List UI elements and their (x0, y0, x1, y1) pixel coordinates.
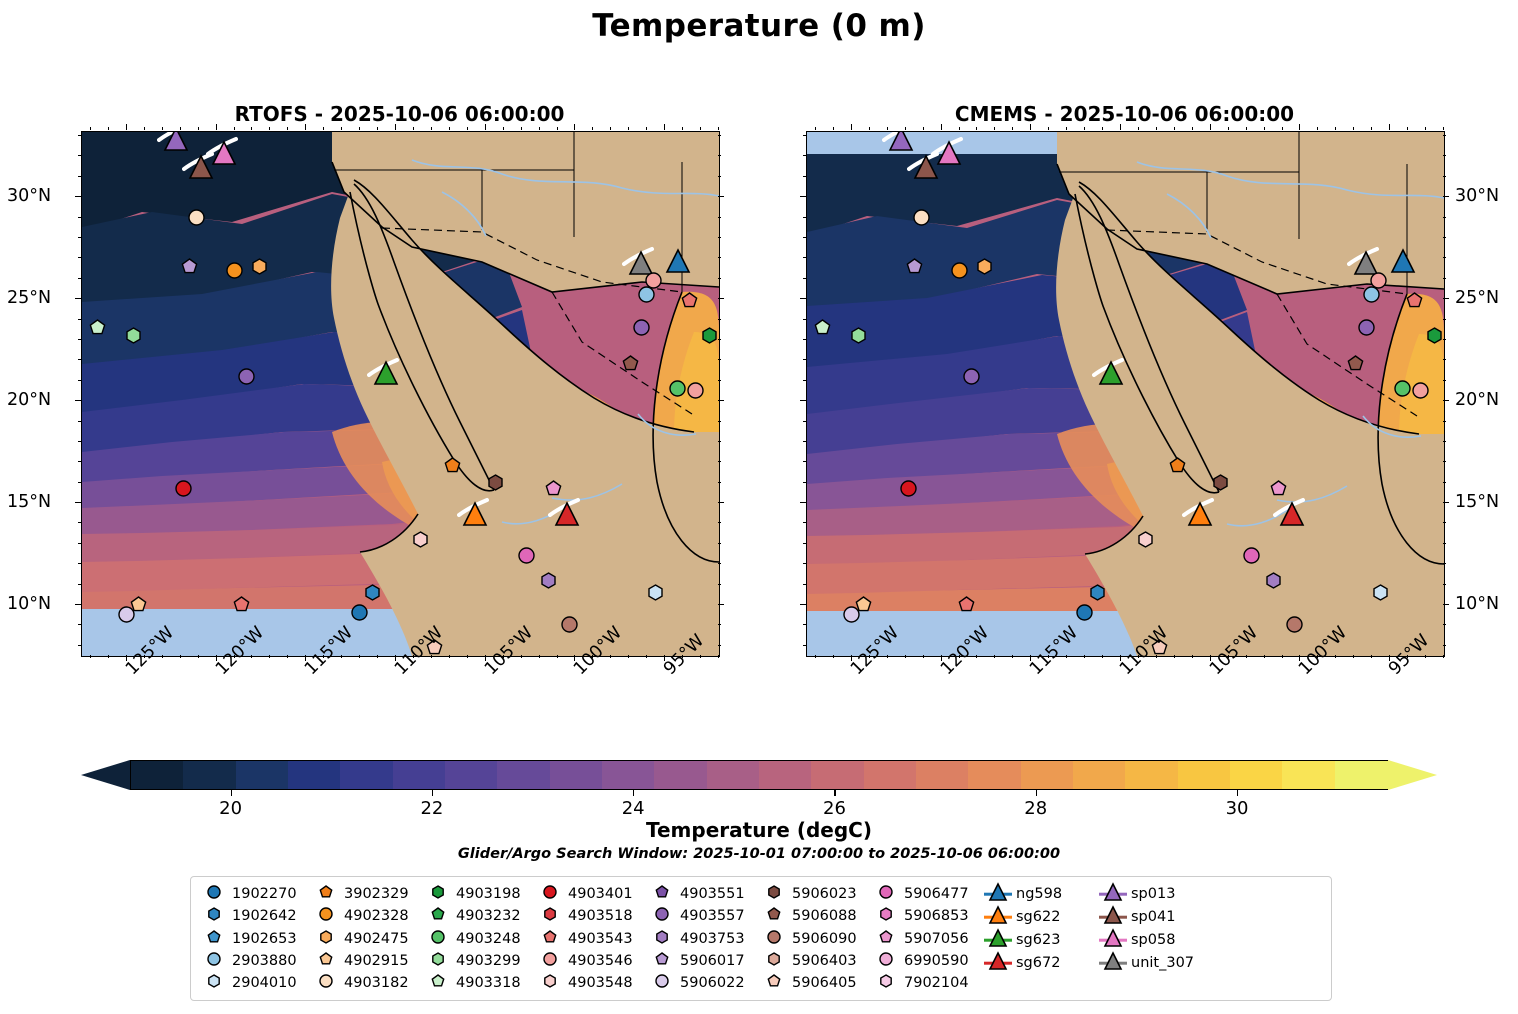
legend-marker-triangle-icon (1098, 930, 1128, 950)
legend-item-5906853[interactable]: 5906853 (871, 905, 983, 926)
map-marker-4902328[interactable] (225, 261, 244, 280)
y-minor-tick (803, 441, 806, 442)
colorbar-segment (1282, 761, 1336, 789)
legend-item-unit_307[interactable]: unit_307 (1098, 952, 1213, 974)
map-marker-4902328[interactable] (950, 261, 969, 280)
colorbar-segment (811, 761, 865, 789)
y-tick-label: 10°N (7, 594, 51, 614)
colorbar-segment (916, 761, 970, 789)
y-minor-tick (803, 584, 806, 585)
x-minor-tick (1371, 655, 1372, 658)
legend-column-3: 49031984903232490324849032994903318 (423, 883, 535, 994)
map-marker-4902915[interactable] (129, 595, 148, 614)
map-marker-4903557b[interactable] (1357, 318, 1376, 337)
map-marker-sp013[interactable] (888, 131, 914, 152)
legend-label: 4903548 (565, 975, 633, 991)
legend-item-4903557[interactable]: 4903557 (647, 905, 759, 926)
legend-marker-triangle-icon (1098, 953, 1128, 973)
x-minor-tick (833, 655, 834, 658)
colorbar-tick-label: 28 (1024, 798, 1047, 819)
x-minor-tick (923, 127, 924, 130)
legend-marker-hexagon-icon (759, 951, 789, 971)
map-marker-sg672[interactable] (1279, 501, 1305, 527)
x-minor-tick (323, 655, 324, 658)
legend-item-4903546[interactable]: 4903546 (535, 950, 647, 971)
map-marker-sp041[interactable] (913, 154, 939, 180)
x-minor-tick (646, 655, 647, 658)
map-marker-4902475[interactable] (250, 257, 269, 276)
map-marker-ng598[interactable] (665, 248, 691, 274)
legend-item-1902653[interactable]: 1902653 (199, 928, 311, 949)
x-minor-tick (1335, 127, 1336, 130)
colorbar-segment (1125, 761, 1179, 789)
x-minor-tick (90, 655, 91, 658)
y-minor-tick (718, 441, 721, 442)
x-minor-tick (628, 127, 629, 130)
map-marker-ng598[interactable] (1390, 248, 1416, 274)
y-minor-tick (803, 482, 806, 483)
x-tick (851, 124, 852, 130)
y-tick (800, 400, 806, 401)
x-minor-tick (1246, 655, 1247, 658)
y-minor-tick (78, 155, 81, 156)
y-tick-label: 15°N (7, 492, 51, 512)
map-marker-4903198[interactable] (1425, 326, 1444, 345)
y-minor-tick (718, 645, 721, 646)
map-marker-5906023[interactable] (1211, 473, 1230, 492)
y-tick (1443, 502, 1449, 503)
map-marker-4903198[interactable] (700, 326, 719, 345)
y-minor-tick (1443, 217, 1446, 218)
y-minor-tick (78, 421, 81, 422)
legend-label: 2903880 (229, 953, 297, 969)
x-minor-tick (1282, 127, 1283, 130)
x-minor-tick (1264, 655, 1265, 658)
x-minor-tick (521, 655, 522, 658)
y-minor-tick (718, 257, 721, 258)
legend-label: 1902653 (229, 931, 297, 947)
colorbar-segment (497, 761, 551, 789)
legend[interactable]: 1902270190264219026532903880290401039023… (190, 876, 1332, 1001)
y-minor-tick (78, 584, 81, 585)
colorbar-gradient (130, 760, 1388, 790)
legend-marker-hexagon-icon (535, 906, 565, 926)
x-minor-tick (1282, 655, 1283, 658)
map-marker-2904010[interactable] (646, 583, 665, 602)
x-minor-tick (557, 655, 558, 658)
y-minor-tick (803, 319, 806, 320)
x-minor-tick (1264, 127, 1265, 130)
x-minor-tick (180, 127, 181, 130)
y-tick-label: 25°N (7, 288, 51, 308)
y-minor-tick (803, 237, 806, 238)
map-marker-5906088[interactable] (1346, 354, 1365, 373)
legend-marker-triangle-icon (983, 884, 1013, 904)
x-minor-tick (718, 655, 719, 658)
x-minor-tick (628, 655, 629, 658)
y-minor-tick (78, 543, 81, 544)
map-marker-4903299[interactable] (849, 326, 868, 345)
y-tick (1443, 400, 1449, 401)
legend-label: 4903557 (677, 908, 745, 924)
y-minor-tick (718, 176, 721, 177)
x-minor-tick (467, 127, 468, 130)
legend-item-5906477[interactable]: 5906477 (871, 883, 983, 904)
map-marker-1902270[interactable] (350, 603, 369, 622)
map-marker-4903753[interactable] (1264, 571, 1283, 590)
y-minor-tick (1443, 522, 1446, 523)
x-minor-tick (1066, 127, 1067, 130)
map-marker-4903318[interactable] (813, 318, 832, 337)
legend-item-4903299[interactable]: 4903299 (423, 950, 535, 971)
map-marker-4902915[interactable] (854, 595, 873, 614)
legend-column-6: 59060235906088590609059064035906405 (759, 883, 871, 994)
legend-marker-circle-icon (871, 884, 901, 904)
x-minor-tick (905, 127, 906, 130)
y-tick (75, 502, 81, 503)
legend-marker-circle-icon (423, 929, 453, 949)
x-minor-tick (959, 127, 960, 130)
legend-marker-circle-icon (535, 884, 565, 904)
legend-marker-pentagon-icon (759, 906, 789, 926)
x-minor-tick (1156, 655, 1157, 658)
x-minor-tick (341, 655, 342, 658)
x-minor-tick (1156, 127, 1157, 130)
legend-item-5906088[interactable]: 5906088 (759, 905, 871, 926)
x-tick (941, 124, 942, 130)
x-minor-tick (1192, 655, 1193, 658)
marker-overlay-cmems (807, 132, 1444, 656)
x-minor-tick (144, 655, 145, 658)
map-marker-4903543b[interactable] (680, 291, 699, 310)
x-minor-tick (90, 127, 91, 130)
legend-item-4902475[interactable]: 4902475 (311, 928, 423, 949)
legend-label: 4902328 (341, 908, 409, 924)
legend-item-5906090[interactable]: 5906090 (759, 928, 871, 949)
legend-label: 4903753 (677, 931, 745, 947)
legend-marker-hexagon-icon (199, 973, 229, 993)
map-marker-sg623[interactable] (1098, 360, 1124, 386)
colorbar-segment (1230, 761, 1284, 789)
colorbar-tick-label: 24 (622, 798, 645, 819)
y-minor-tick (78, 176, 81, 177)
map-marker-4903401[interactable] (899, 479, 918, 498)
colorbar-segment (707, 761, 761, 789)
legend-label: 5906017 (677, 953, 745, 969)
map-marker-5906090[interactable] (1285, 615, 1304, 634)
legend-marker-circle-icon (871, 951, 901, 971)
map-marker-4903546b[interactable] (1411, 381, 1430, 400)
map-marker-4902475[interactable] (975, 257, 994, 276)
y-minor-tick (1443, 645, 1446, 646)
x-minor-tick (1012, 655, 1013, 658)
map-marker-4903548[interactable] (1136, 530, 1155, 549)
y-minor-tick (718, 543, 721, 544)
marker-overlay-rtofs (82, 132, 719, 656)
y-minor-tick (78, 237, 81, 238)
map-marker-1902642[interactable] (1088, 583, 1107, 602)
y-tick (718, 502, 724, 503)
map-marker-sg622[interactable] (1187, 501, 1213, 527)
y-minor-tick (718, 135, 721, 136)
y-tick (1443, 298, 1449, 299)
colorbar-tick (432, 790, 433, 796)
x-minor-tick (1335, 655, 1336, 658)
legend-label: 5906477 (901, 886, 969, 902)
map-marker-4903546b[interactable] (686, 381, 705, 400)
map-marker-4903248[interactable] (668, 379, 687, 398)
x-minor-tick (1228, 655, 1229, 658)
legend-marker-circle-icon (759, 929, 789, 949)
legend-marker-hexagon-icon (871, 973, 901, 993)
legend-item-5907056[interactable]: 5907056 (871, 928, 983, 949)
legend-label: 4903182 (341, 975, 409, 991)
x-minor-tick (359, 127, 360, 130)
legend-marker-pentagon-icon (423, 973, 453, 993)
x-tick (126, 124, 127, 130)
legend-item-sp058[interactable]: sp058 (1098, 929, 1213, 951)
x-minor-tick (1425, 127, 1426, 130)
y-tick (1443, 196, 1449, 197)
x-minor-tick (287, 127, 288, 130)
x-minor-tick (198, 655, 199, 658)
y-minor-tick (1443, 135, 1446, 136)
legend-item-2904010[interactable]: 2904010 (199, 973, 311, 994)
map-marker-4903543b[interactable] (1405, 291, 1424, 310)
y-minor-tick (803, 421, 806, 422)
legend-item-5906017[interactable]: 5906017 (647, 950, 759, 971)
map-marker-5906477[interactable] (517, 546, 536, 565)
map-marker-1902270[interactable] (1075, 603, 1094, 622)
legend-item-3902329[interactable]: 3902329 (311, 883, 423, 904)
y-tick-label: 15°N (1455, 492, 1499, 512)
legend-item-4903198[interactable]: 4903198 (423, 883, 535, 904)
map-marker-4903557[interactable] (237, 367, 256, 386)
legend-marker-pentagon-icon (311, 884, 341, 904)
y-minor-tick (1443, 339, 1446, 340)
map-marker-4903182[interactable] (187, 208, 206, 227)
legend-item-4903182[interactable]: 4903182 (311, 973, 423, 994)
legend-column-2: 39023294902328490247549029154903182 (311, 883, 423, 994)
legend-item-4903753[interactable]: 4903753 (647, 928, 759, 949)
map-marker-3902329[interactable] (443, 456, 462, 475)
legend-label: 4903248 (453, 931, 521, 947)
x-minor-tick (431, 127, 432, 130)
legend-column-7: 59064775906853590705669905907902104 (871, 883, 983, 994)
y-minor-tick (78, 645, 81, 646)
legend-item-ng598[interactable]: ng598 (983, 883, 1098, 905)
legend-glider-column-2: sp013sp041sp058unit_307 (1098, 883, 1213, 994)
legend-label: 2904010 (229, 975, 297, 991)
legend-marker-pentagon-icon (535, 929, 565, 949)
legend-item-1902642[interactable]: 1902642 (199, 905, 311, 926)
legend-item-5906023[interactable]: 5906023 (759, 883, 871, 904)
x-minor-tick (1353, 655, 1354, 658)
x-tick (664, 124, 665, 130)
legend-marker-hexagon-icon (311, 929, 341, 949)
x-minor-tick (323, 127, 324, 130)
map-marker-2903880[interactable] (637, 285, 656, 304)
x-tick (216, 124, 217, 130)
legend-marker-circle-icon (647, 906, 677, 926)
legend-item-4903543[interactable]: 4903543 (535, 928, 647, 949)
map-marker-5907056[interactable] (544, 479, 563, 498)
map-marker-4903753[interactable] (539, 571, 558, 590)
y-minor-tick (1443, 543, 1446, 544)
legend-item-sp041[interactable]: sp041 (1098, 906, 1213, 928)
y-minor-tick (1443, 563, 1446, 564)
map-marker-4903248[interactable] (1393, 379, 1412, 398)
x-minor-tick (413, 127, 414, 130)
colorbar-segment (236, 761, 290, 789)
x-tick (1120, 124, 1121, 130)
colorbar-segment (1178, 761, 1232, 789)
x-minor-tick (1174, 127, 1175, 130)
y-minor-tick (78, 135, 81, 136)
y-tick (800, 502, 806, 503)
map-marker-sp013[interactable] (163, 131, 189, 152)
legend-item-1902270[interactable]: 1902270 (199, 883, 311, 904)
panel-title-cmems: CMEMS - 2025-10-06 06:00:00 (806, 102, 1443, 126)
x-minor-tick (1138, 655, 1139, 658)
y-minor-tick (803, 461, 806, 462)
x-minor-tick (1102, 127, 1103, 130)
legend-label: unit_307 (1128, 955, 1194, 971)
map-marker-3902329[interactable] (1168, 456, 1187, 475)
map-marker-4903299[interactable] (124, 326, 143, 345)
y-minor-tick (78, 339, 81, 340)
legend-label: ng598 (1013, 886, 1062, 902)
legend-item-7902104[interactable]: 7902104 (871, 973, 983, 994)
legend-item-4903401[interactable]: 4903401 (535, 883, 647, 904)
legend-marker-pentagon-icon (647, 884, 677, 904)
x-minor-tick (700, 127, 701, 130)
x-minor-tick (1066, 655, 1067, 658)
y-minor-tick (1443, 380, 1446, 381)
map-marker-4903543[interactable] (957, 595, 976, 614)
y-minor-tick (718, 278, 721, 279)
legend-item-sg623[interactable]: sg623 (983, 929, 1098, 951)
colorbar-segment (968, 761, 1022, 789)
x-minor-tick (251, 127, 252, 130)
y-minor-tick (803, 176, 806, 177)
x-minor-tick (413, 655, 414, 658)
x-minor-tick (959, 655, 960, 658)
map-marker-4903401[interactable] (174, 479, 193, 498)
colorbar-segment (445, 761, 499, 789)
legend-marker-pentagon-icon (199, 929, 229, 949)
x-minor-tick (1048, 655, 1049, 658)
legend-item-4903232[interactable]: 4903232 (423, 905, 535, 926)
map-panel-rtofs[interactable] (81, 131, 720, 657)
map-marker-sg672[interactable] (554, 501, 580, 527)
legend-item-5906403[interactable]: 5906403 (759, 950, 871, 971)
y-minor-tick (803, 380, 806, 381)
y-minor-tick (803, 645, 806, 646)
x-minor-tick (503, 127, 504, 130)
colorbar-segment (864, 761, 918, 789)
colorbar-tick-label: 22 (420, 798, 443, 819)
legend-item-4902915[interactable]: 4902915 (311, 950, 423, 971)
map-marker-5906090[interactable] (560, 615, 579, 634)
colorbar-tick (633, 790, 634, 796)
x-minor-tick (1192, 127, 1193, 130)
y-minor-tick (718, 319, 721, 320)
y-minor-tick (803, 522, 806, 523)
y-minor-tick (78, 482, 81, 483)
x-tick (485, 124, 486, 130)
y-minor-tick (1443, 461, 1446, 462)
legend-item-4903248[interactable]: 4903248 (423, 928, 535, 949)
legend-item-4903518[interactable]: 4903518 (535, 905, 647, 926)
x-minor-tick (610, 655, 611, 658)
map-marker-4903557b[interactable] (632, 318, 651, 337)
map-marker-5906017[interactable] (180, 257, 199, 276)
legend-item-sg672[interactable]: sg672 (983, 952, 1098, 974)
legend-item-5906022[interactable]: 5906022 (647, 973, 759, 994)
x-minor-tick (815, 127, 816, 130)
legend-item-6990590[interactable]: 6990590 (871, 950, 983, 971)
y-minor-tick (803, 359, 806, 360)
legend-item-4903551[interactable]: 4903551 (647, 883, 759, 904)
map-panel-cmems[interactable] (806, 131, 1445, 657)
legend-item-5906405[interactable]: 5906405 (759, 973, 871, 994)
y-minor-tick (1443, 257, 1446, 258)
legend-label: 4903551 (677, 886, 745, 902)
legend-item-4902328[interactable]: 4902328 (311, 905, 423, 926)
legend-item-sg622[interactable]: sg622 (983, 906, 1098, 928)
map-marker-1902642[interactable] (363, 583, 382, 602)
map-marker-2904010[interactable] (1371, 583, 1390, 602)
legend-item-2903880[interactable]: 2903880 (199, 950, 311, 971)
y-minor-tick (718, 482, 721, 483)
map-marker-2903880[interactable] (1362, 285, 1381, 304)
legend-marker-pentagon-icon (871, 929, 901, 949)
legend-marker-hexagon-icon (423, 884, 453, 904)
legend-item-4903318[interactable]: 4903318 (423, 973, 535, 994)
colorbar[interactable]: 202224262830 (81, 760, 1437, 790)
map-marker-5906023[interactable] (486, 473, 505, 492)
x-minor-tick (1317, 655, 1318, 658)
y-minor-tick (78, 563, 81, 564)
legend-item-4903548[interactable]: 4903548 (535, 973, 647, 994)
legend-label: 4903518 (565, 908, 633, 924)
map-marker-5906088[interactable] (621, 354, 640, 373)
map-marker-4903182[interactable] (912, 208, 931, 227)
legend-marker-hexagon-icon (759, 884, 789, 904)
map-marker-5907056[interactable] (1269, 479, 1288, 498)
map-marker-sp041[interactable] (188, 154, 214, 180)
map-marker-sg623[interactable] (373, 360, 399, 386)
map-marker-5906477[interactable] (1242, 546, 1261, 565)
x-minor-tick (521, 127, 522, 130)
y-minor-tick (1443, 237, 1446, 238)
x-minor-tick (377, 655, 378, 658)
map-marker-5906017[interactable] (905, 257, 924, 276)
map-marker-sg622[interactable] (462, 501, 488, 527)
colorbar-segment (1021, 761, 1075, 789)
map-marker-4903318[interactable] (88, 318, 107, 337)
y-minor-tick (1443, 359, 1446, 360)
map-marker-4903557[interactable] (962, 367, 981, 386)
legend-item-sp013[interactable]: sp013 (1098, 883, 1213, 905)
x-minor-tick (144, 127, 145, 130)
x-minor-tick (449, 655, 450, 658)
map-marker-4903543[interactable] (232, 595, 251, 614)
map-marker-4903548[interactable] (411, 530, 430, 549)
y-minor-tick (803, 278, 806, 279)
x-minor-tick (923, 655, 924, 658)
